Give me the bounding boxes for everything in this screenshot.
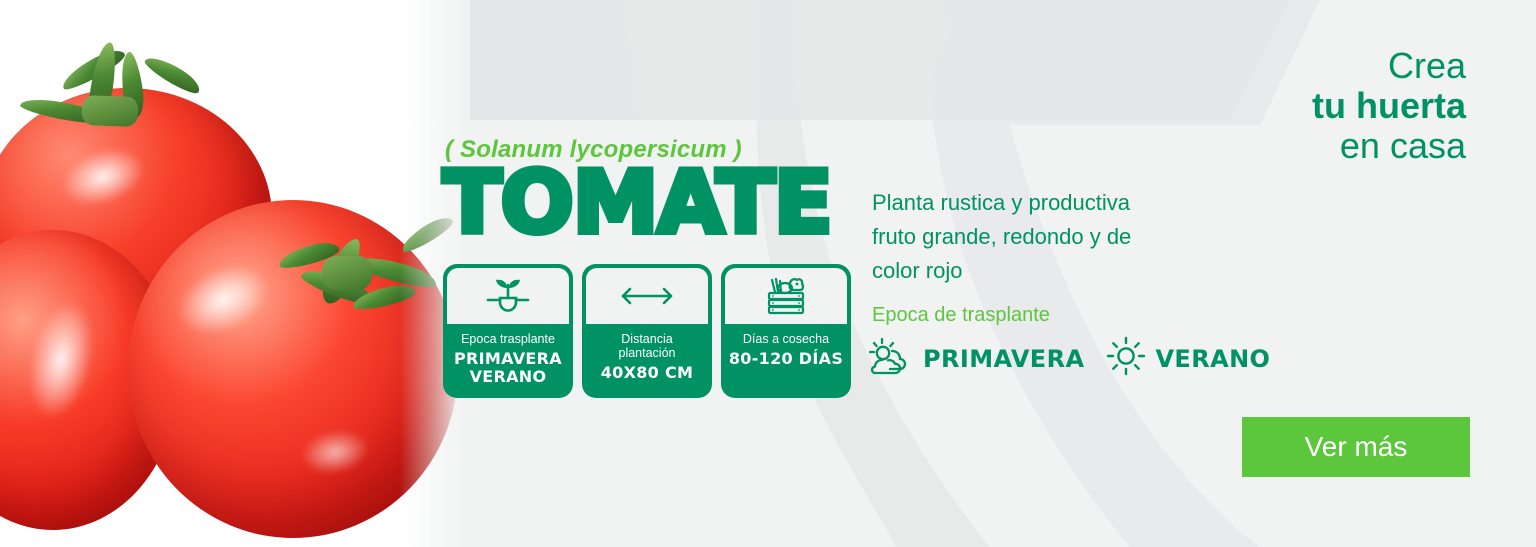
info-cards: Epoca trasplante PRIMAVERA VERANO Distan… [443, 264, 851, 398]
card-value: 40X80 CM [601, 364, 694, 382]
claim-line-1: Crea [1312, 46, 1466, 86]
season-primavera: PRIMAVERA [868, 337, 1084, 380]
vegetable-crate-icon [725, 268, 847, 324]
claim-line-2: tu huerta [1312, 86, 1466, 126]
season-heading: Epoca de trasplante [872, 304, 1050, 327]
claim-line-3: en casa [1312, 126, 1466, 166]
description-line-3: color rojo [872, 254, 1202, 288]
season-label: PRIMAVERA [923, 345, 1084, 373]
card-label: Epoca trasplante [457, 332, 559, 346]
card-value: PRIMAVERA VERANO [454, 350, 562, 386]
description-line-2: fruto grande, redondo y de [872, 220, 1202, 254]
sun-cloud-icon [868, 337, 914, 380]
card-dias-cosecha: Días a cosecha 80-120 DÍAS [721, 264, 851, 398]
season-verano: VERANO [1106, 336, 1270, 381]
seedling-icon [447, 268, 569, 324]
card-epoca-trasplante: Epoca trasplante PRIMAVERA VERANO [443, 264, 573, 398]
page-title: TOMATE [443, 160, 832, 246]
horizontal-arrow-icon [586, 268, 708, 324]
ver-mas-button[interactable]: Ver más [1242, 417, 1470, 477]
card-label: Distancia plantación [615, 332, 680, 360]
season-list: PRIMAVERA VERANO [868, 336, 1270, 381]
promo-banner: ( Solanum lycopersicum ) TOMATE Epoca tr… [0, 0, 1536, 547]
season-label: VERANO [1155, 345, 1270, 373]
card-distancia-plantacion: Distancia plantación 40X80 CM [582, 264, 712, 398]
sun-icon [1106, 336, 1146, 381]
product-description: Planta rustica y productiva fruto grande… [872, 186, 1202, 288]
claim-block: Crea tu huerta en casa [1312, 46, 1466, 166]
card-label: Días a cosecha [739, 332, 833, 346]
tomato-photo [0, 0, 470, 547]
card-value: 80-120 DÍAS [729, 350, 843, 368]
description-line-1: Planta rustica y productiva [872, 186, 1202, 220]
